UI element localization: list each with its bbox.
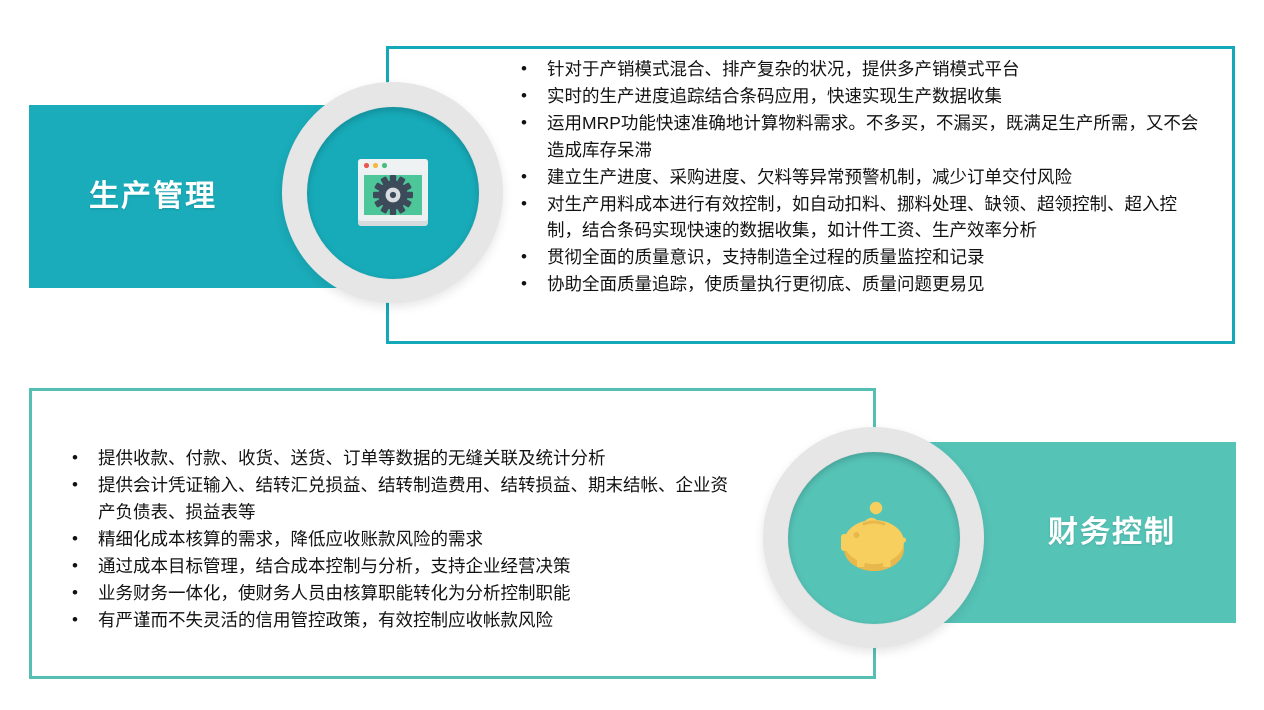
bullet-marker-icon: •	[72, 607, 98, 634]
list-item: • 协助全面质量追踪，使质量执行更彻底、质量问题更易见	[521, 271, 1211, 298]
production-title: 生产管理	[89, 182, 217, 212]
list-item-text: 对生产用料成本进行有效控制，如自动扣料、挪料处理、缺领、超领控制、超入控制，结合…	[547, 191, 1211, 244]
list-item-text: 建立生产进度、采购进度、欠料等异常预警机制，减少订单交付风险	[547, 164, 1211, 191]
list-item: • 运用MRP功能快速准确地计算物料需求。不多买，不漏买，既满足生产所需，又不会…	[521, 110, 1211, 163]
list-item-text: 运用MRP功能快速准确地计算物料需求。不多买，不漏买，既满足生产所需，又不会造成…	[547, 110, 1211, 163]
bullet-marker-icon: •	[521, 164, 547, 191]
list-item: • 精细化成本核算的需求，降低应收账款风险的需求	[72, 526, 732, 553]
list-item-text: 针对于产销模式混合、排产复杂的状况，提供多产销模式平台	[547, 56, 1211, 83]
slide-canvas: • 针对于产销模式混合、排产复杂的状况，提供多产销模式平台 • 实时的生产进度追…	[0, 0, 1264, 710]
list-item-text: 协助全面质量追踪，使质量执行更彻底、质量问题更易见	[547, 271, 1211, 298]
list-item-text: 提供会计凭证输入、结转汇兑损益、结转制造费用、结转损益、期末结帐、企业资产负债表…	[98, 472, 732, 525]
production-medallion	[282, 82, 503, 303]
bullet-marker-icon: •	[72, 472, 98, 499]
bullet-marker-icon: •	[521, 244, 547, 271]
list-item: • 实时的生产进度追踪结合条码应用，快速实现生产数据收集	[521, 83, 1211, 110]
list-item: • 有严谨而不失灵活的信用管控政策，有效控制应收帐款风险	[72, 607, 732, 634]
finance-medallion	[763, 427, 984, 648]
finance-bullet-list: • 提供收款、付款、收货、送货、订单等数据的无缝关联及统计分析 • 提供会计凭证…	[72, 445, 732, 634]
list-item-text: 通过成本目标管理，结合成本控制与分析，支持企业经营决策	[98, 553, 732, 580]
list-item-text: 精细化成本核算的需求，降低应收账款风险的需求	[98, 526, 732, 553]
production-medallion-disc	[307, 107, 479, 279]
list-item: • 提供收款、付款、收货、送货、订单等数据的无缝关联及统计分析	[72, 445, 732, 472]
list-item-text: 业务财务一体化，使财务人员由核算职能转化为分析控制职能	[98, 580, 732, 607]
list-item: • 业务财务一体化，使财务人员由核算职能转化为分析控制职能	[72, 580, 732, 607]
list-item: • 通过成本目标管理，结合成本控制与分析，支持企业经营决策	[72, 553, 732, 580]
list-item-text: 贯彻全面的质量意识，支持制造全过程的质量监控和记录	[547, 244, 1211, 271]
list-item: • 贯彻全面的质量意识，支持制造全过程的质量监控和记录	[521, 244, 1211, 271]
production-bullet-list: • 针对于产销模式混合、排产复杂的状况，提供多产销模式平台 • 实时的生产进度追…	[521, 56, 1211, 298]
finance-title: 财务控制	[1048, 518, 1176, 548]
list-item: • 对生产用料成本进行有效控制，如自动扣料、挪料处理、缺领、超领控制、超入控制，…	[521, 191, 1211, 244]
bullet-marker-icon: •	[72, 445, 98, 472]
list-item-text: 有严谨而不失灵活的信用管控政策，有效控制应收帐款风险	[98, 607, 732, 634]
bullet-marker-icon: •	[72, 526, 98, 553]
browser-window-gear-icon	[350, 150, 436, 236]
bullet-marker-icon: •	[521, 191, 547, 218]
list-item: • 提供会计凭证输入、结转汇兑损益、结转制造费用、结转损益、期末结帐、企业资产负…	[72, 472, 732, 525]
list-item-text: 实时的生产进度追踪结合条码应用，快速实现生产数据收集	[547, 83, 1211, 110]
bullet-marker-icon: •	[521, 83, 547, 110]
list-item-text: 提供收款、付款、收货、送货、订单等数据的无缝关联及统计分析	[98, 445, 732, 472]
bullet-marker-icon: •	[521, 271, 547, 298]
piggy-bank-icon	[831, 495, 917, 581]
list-item: • 针对于产销模式混合、排产复杂的状况，提供多产销模式平台	[521, 56, 1211, 83]
bullet-marker-icon: •	[72, 580, 98, 607]
finance-medallion-disc	[788, 452, 960, 624]
bullet-marker-icon: •	[521, 110, 547, 137]
bullet-marker-icon: •	[521, 56, 547, 83]
list-item: • 建立生产进度、采购进度、欠料等异常预警机制，减少订单交付风险	[521, 164, 1211, 191]
bullet-marker-icon: •	[72, 553, 98, 580]
